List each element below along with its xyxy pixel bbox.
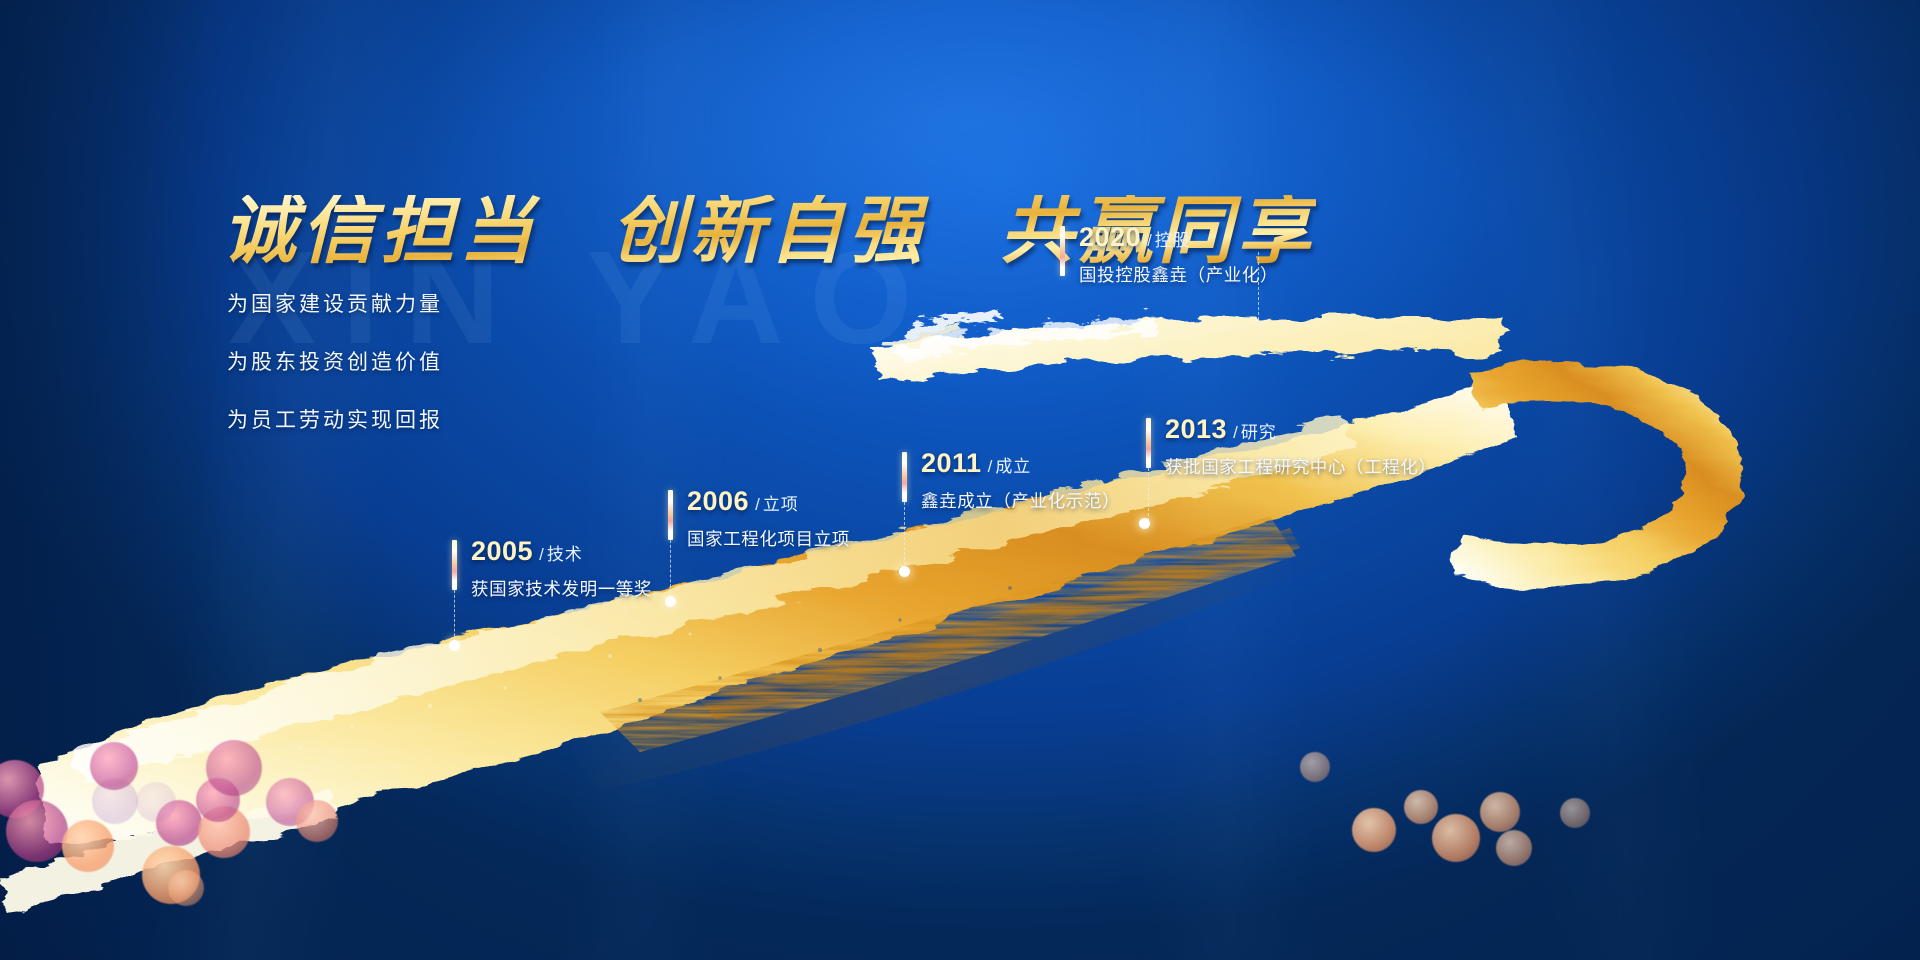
milestone-heading: 2006/立项 bbox=[687, 486, 850, 517]
milestone-tag: 研究 bbox=[1241, 423, 1277, 442]
milestone-description: 鑫垚成立（产业化示范） bbox=[921, 488, 1120, 513]
headline-part-2: 创新自强 bbox=[611, 191, 927, 273]
headline-part-1: 诚信担当 bbox=[222, 191, 538, 273]
milestone-accent-bar bbox=[452, 540, 457, 590]
subtitle-line: 为员工劳动实现回报 bbox=[227, 404, 443, 434]
milestone-heading: 2011/成立 bbox=[921, 448, 1120, 479]
milestone-text-block: 2013/研究 获批国家工程研究中心（工程化） bbox=[1165, 414, 1437, 479]
milestone-accent-bar bbox=[902, 452, 907, 502]
milestone-text-block: 2006/立项 国家工程化项目立项 bbox=[687, 486, 850, 551]
milestone-dot-2011 bbox=[899, 566, 910, 577]
banner-canvas: XIN YAO bbox=[0, 0, 1920, 960]
milestone-leader-line-2013 bbox=[1148, 468, 1149, 526]
milestone-description: 国投控股鑫垚（产业化） bbox=[1079, 262, 1278, 287]
milestone-separator: / bbox=[1147, 231, 1152, 250]
milestone-tag: 控股 bbox=[1155, 231, 1191, 250]
milestone-separator: / bbox=[755, 495, 760, 514]
milestone-separator: / bbox=[988, 457, 993, 476]
milestone-dot-2006 bbox=[665, 596, 676, 607]
milestone-leader-line-2005 bbox=[454, 590, 455, 646]
milestone-year: 2013 bbox=[1165, 414, 1227, 444]
milestone-heading: 2020/控股 bbox=[1079, 222, 1278, 253]
milestone-dot-2013 bbox=[1139, 518, 1150, 529]
milestone-separator: / bbox=[539, 545, 544, 564]
milestone-text-block: 2020/控股 国投控股鑫垚（产业化） bbox=[1079, 222, 1278, 287]
milestone-year: 2011 bbox=[921, 448, 982, 478]
milestone-separator: / bbox=[1233, 423, 1238, 442]
milestone-year: 2005 bbox=[471, 536, 533, 566]
milestone-accent-bar bbox=[1146, 418, 1151, 468]
milestone-text-block: 2005/技术 获国家技术发明一等奖 bbox=[471, 536, 652, 601]
milestone-tag: 立项 bbox=[763, 495, 799, 514]
milestone-year: 2020 bbox=[1079, 222, 1141, 252]
milestone-year: 2006 bbox=[687, 486, 749, 516]
milestone-tag: 技术 bbox=[547, 545, 583, 564]
subtitle-line: 为国家建设贡献力量 bbox=[227, 288, 443, 318]
milestone-description: 获国家技术发明一等奖 bbox=[471, 576, 652, 601]
subtitle-group: 为国家建设贡献力量 为股东投资创造价值 为员工劳动实现回报 bbox=[227, 288, 443, 462]
milestone-heading: 2013/研究 bbox=[1165, 414, 1437, 445]
milestone-accent-bar bbox=[668, 490, 673, 540]
subtitle-line: 为股东投资创造价值 bbox=[227, 346, 443, 376]
milestone-leader-line-2006 bbox=[670, 540, 671, 602]
milestone-accent-bar bbox=[1060, 226, 1065, 276]
milestone-text-block: 2011/成立 鑫垚成立（产业化示范） bbox=[921, 448, 1120, 513]
milestone-heading: 2005/技术 bbox=[471, 536, 652, 567]
milestone-tag: 成立 bbox=[995, 457, 1031, 476]
milestone-description: 国家工程化项目立项 bbox=[687, 526, 850, 551]
milestone-leader-line-2011 bbox=[904, 502, 905, 570]
milestone-dot-2005 bbox=[449, 640, 460, 651]
milestone-description: 获批国家工程研究中心（工程化） bbox=[1165, 454, 1437, 479]
milestone-leader-line-2020 bbox=[1258, 252, 1259, 340]
